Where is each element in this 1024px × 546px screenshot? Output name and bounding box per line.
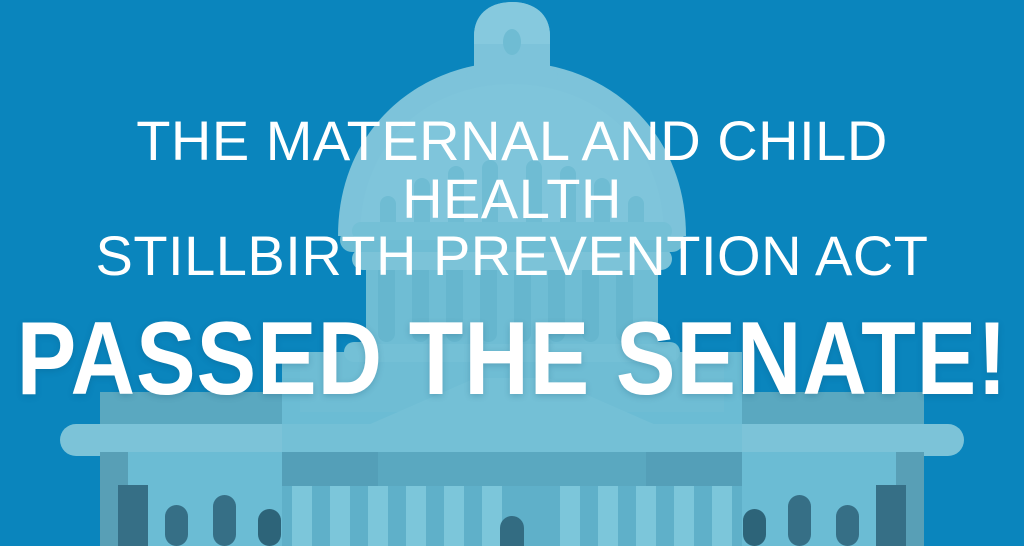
announcement-graphic: THE MATERNAL AND CHILD HEALTH STILLBIRTH… xyxy=(0,0,1024,546)
page-subtitle: THE MATERNAL AND CHILD HEALTH STILLBIRTH… xyxy=(32,112,992,285)
text-overlay: THE MATERNAL AND CHILD HEALTH STILLBIRTH… xyxy=(0,0,1024,546)
subtitle-line-1: THE MATERNAL AND CHILD HEALTH xyxy=(136,109,888,230)
subtitle-line-2: STILLBIRTH PREVENTION ACT xyxy=(32,227,992,285)
page-title: PASSED THE SENATE! xyxy=(16,307,1007,411)
